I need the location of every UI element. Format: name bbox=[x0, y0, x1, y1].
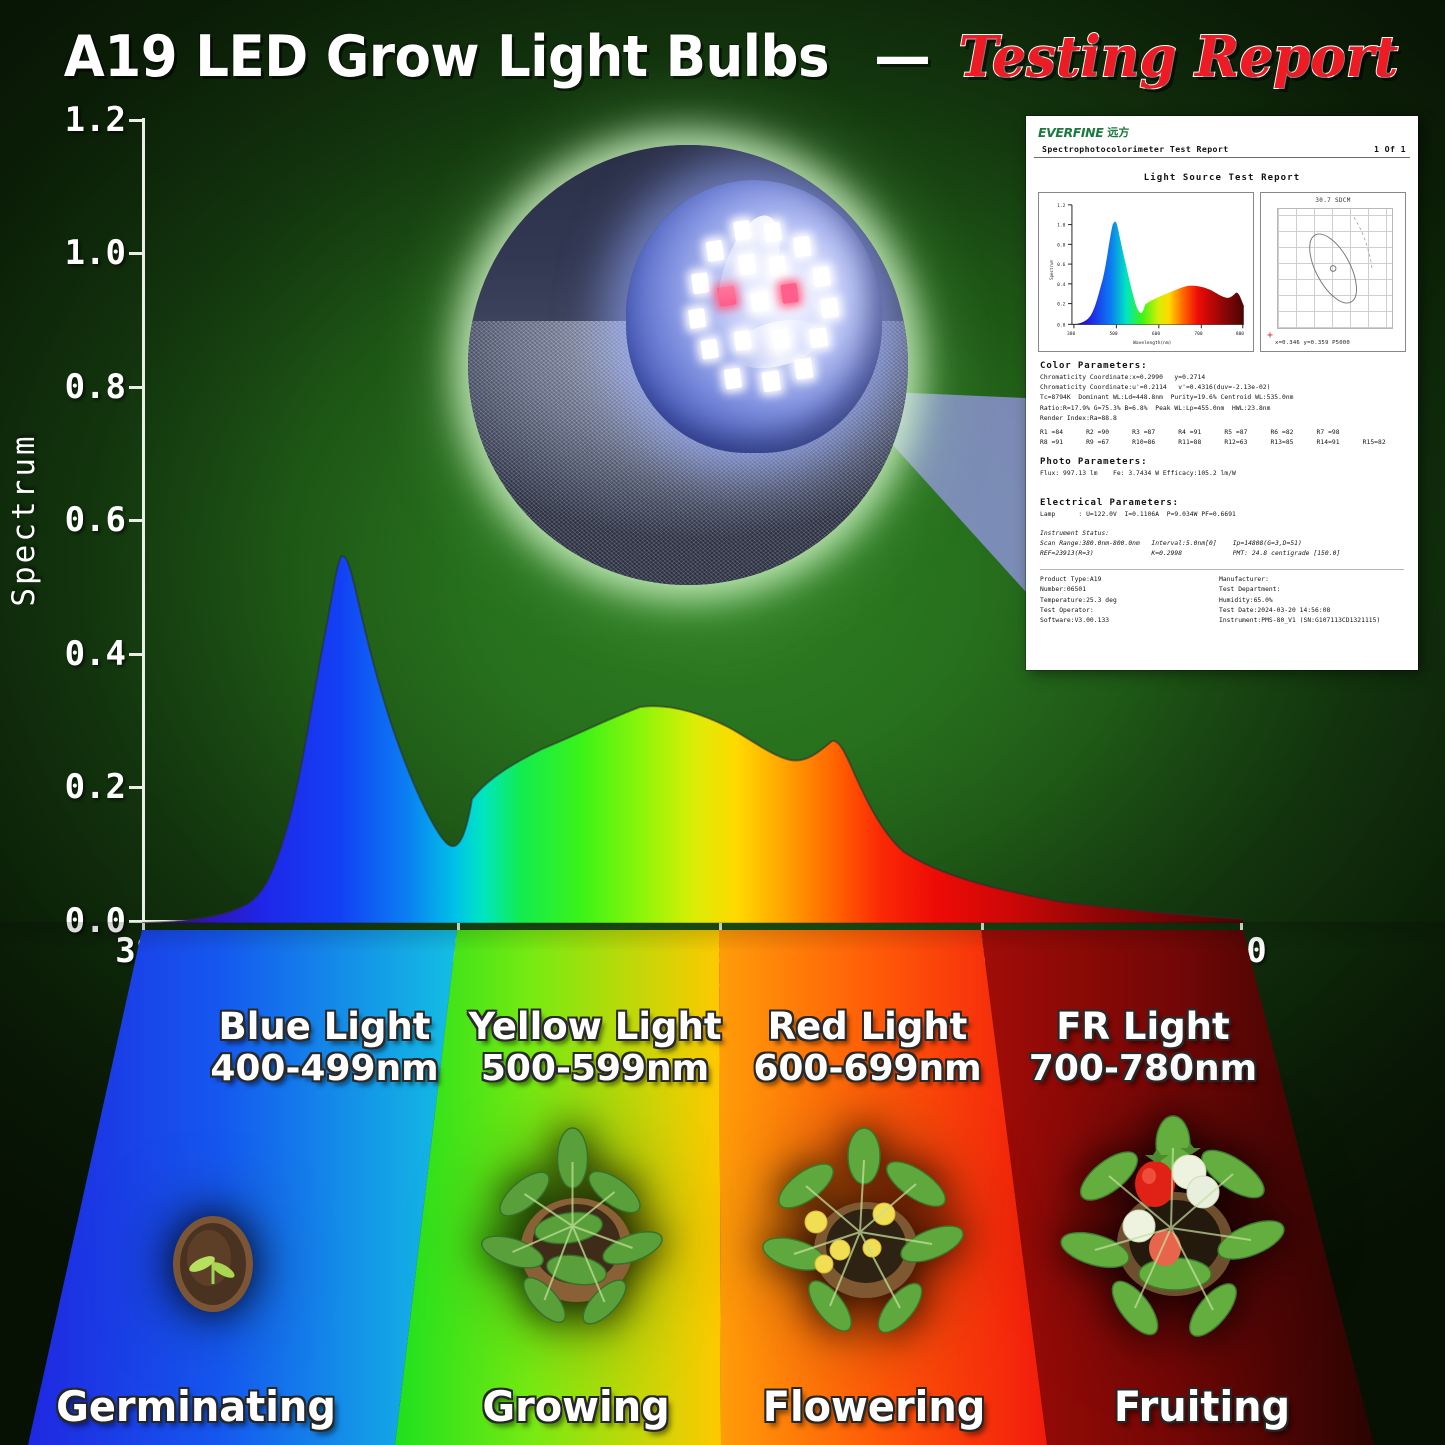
footer-right-3: Test Date:2024-03-20 14:56:08 bbox=[1219, 606, 1410, 616]
y-tick-3 bbox=[129, 519, 142, 522]
band-name-blue: Blue Light bbox=[219, 1005, 431, 1048]
svg-text:1.0: 1.0 bbox=[1057, 223, 1065, 229]
svg-text:0.2: 0.2 bbox=[1057, 302, 1065, 308]
electrical-parameters-line: Lamp : U=122.0V I=0.1106A P=9.034W PF=0.… bbox=[1040, 510, 1410, 520]
instrument-status-right-0: Ip=14808(G=3,D=51) bbox=[1233, 539, 1341, 549]
band-label-blue: Blue Light 400-499nm bbox=[167, 1006, 482, 1090]
report-header-title: Spectrophotocolorimeter Test Report bbox=[1042, 144, 1229, 154]
infographic-root: A19 LED Grow Light Bulbs — Testing Repor… bbox=[0, 0, 1445, 1445]
report-cie-footer: x=0.346 y=0.359 P5000 bbox=[1275, 340, 1350, 346]
report-spectrum-chart: 1.21.0 0.80.6 0.40.2 0.0 380500 600700 8… bbox=[1038, 192, 1254, 352]
y-tick-label-1: 0.2 bbox=[65, 767, 126, 807]
band-label-red: Red Light 600-699nm bbox=[740, 1006, 995, 1090]
svg-text:Wavelength(nm): Wavelength(nm) bbox=[1133, 340, 1171, 346]
footer-right-4: Instrument:PMS-80_V1 (SN:G107113CD132111… bbox=[1219, 616, 1410, 626]
svg-text:0.0: 0.0 bbox=[1057, 322, 1065, 328]
bulb-glass-dome bbox=[626, 180, 881, 453]
color-param-line-3: Ratio:R=17.9% G=75.3% B=6.8% Peak WL:Lp=… bbox=[1040, 404, 1410, 414]
render-index-row-2: R8 =91 R9 =67 R10=86 R11=88 R12=63 R13=8… bbox=[1040, 438, 1410, 448]
y-tick-label-4: 0.8 bbox=[65, 367, 126, 407]
y-tick-label-2: 0.4 bbox=[65, 634, 126, 674]
band-name-yellow: Yellow Light bbox=[468, 1005, 721, 1048]
y-tick-1 bbox=[129, 786, 142, 789]
y-tick-4 bbox=[129, 386, 142, 389]
band-name-red: Red Light bbox=[768, 1005, 968, 1048]
svg-text:1.2: 1.2 bbox=[1057, 203, 1065, 209]
band-label-yellow: Yellow Light 500-599nm bbox=[459, 1006, 731, 1090]
y-tick-label-3: 0.6 bbox=[65, 500, 126, 540]
bulb-photo-circle bbox=[468, 145, 908, 585]
footer-right-2: Humidity:65.0% bbox=[1219, 596, 1410, 606]
instrument-status-right-1: PMT: 24.8 centigrade [150.0] bbox=[1233, 549, 1341, 559]
footer-left-3: Test Operator: bbox=[1040, 606, 1205, 616]
seed-sprout-icon bbox=[161, 1212, 265, 1321]
title-dash: — bbox=[874, 24, 931, 90]
report-footer-divider bbox=[1040, 569, 1404, 570]
svg-text:Spectrum: Spectrum bbox=[1049, 260, 1054, 280]
band-range-blue: 400-499nm bbox=[167, 1049, 482, 1089]
flowering-plant-icon bbox=[754, 1122, 974, 1342]
young-plant-icon bbox=[465, 1122, 680, 1337]
color-param-line-2: Tc=8794K Dominant WL:Ld=448.8nm Purity=1… bbox=[1040, 393, 1410, 403]
report-cie-title: 30.7 SDCM bbox=[1261, 197, 1405, 204]
everfine-logo-cn: 远方 bbox=[1107, 124, 1129, 140]
title-highlight-text: Testing Report bbox=[959, 24, 1399, 90]
instrument-status-block: Instrument Status: Scan Range:380.0nm-80… bbox=[1040, 529, 1410, 560]
band-range-red: 600-699nm bbox=[740, 1049, 995, 1089]
stage-label-fruiting: Fruiting bbox=[1114, 1382, 1290, 1431]
title-main-text: A19 LED Grow Light Bulbs bbox=[64, 24, 829, 90]
footer-right-1: Test Department: bbox=[1219, 585, 1410, 595]
stage-label-germinating: Germinating bbox=[56, 1382, 336, 1431]
instrument-status-left-1: REF=23913(R=3) K=0.2998 bbox=[1040, 549, 1217, 559]
y-tick-6 bbox=[129, 119, 142, 122]
svg-text:0.8: 0.8 bbox=[1057, 242, 1065, 248]
color-param-line-4: Render Index:Ra=88.8 bbox=[1040, 414, 1410, 424]
band-label-fr: FR Light 700-780nm bbox=[1012, 1006, 1274, 1090]
report-cie-grid bbox=[1277, 208, 1393, 329]
instrument-status-heading: Instrument Status: bbox=[1040, 529, 1410, 539]
bulb-photo bbox=[468, 145, 938, 585]
y-axis-title: Spectrum bbox=[6, 433, 42, 606]
stage-label-flowering: Flowering bbox=[763, 1382, 986, 1431]
everfine-logo-text: EVERFINE bbox=[1038, 125, 1103, 140]
report-page-number: 1 Of 1 bbox=[1374, 144, 1406, 154]
svg-text:380: 380 bbox=[1067, 331, 1075, 337]
photo-parameters-line: Flux: 997.13 lm Fe: 3.7434 W Efficacy:10… bbox=[1040, 469, 1410, 479]
cie-marker-icon: + bbox=[1267, 333, 1273, 339]
report-footer: Product Type:A19 Number:06501 Temperatur… bbox=[1040, 575, 1410, 626]
color-param-line-1: Chromaticity Coordinate:u'=0.2114 v'=0.4… bbox=[1040, 383, 1410, 393]
band-range-yellow: 500-599nm bbox=[459, 1049, 731, 1089]
stage-label-growing: Growing bbox=[482, 1382, 669, 1431]
instrument-status-left-0: Scan Range:380.0nm-800.0nm Interval:5.0n… bbox=[1040, 539, 1217, 549]
svg-text:600: 600 bbox=[1152, 331, 1160, 337]
color-parameters-heading: Color Parameters: bbox=[1040, 361, 1410, 371]
svg-text:800: 800 bbox=[1236, 331, 1244, 337]
y-tick-2 bbox=[129, 653, 142, 656]
footer-left-4: Software:V3.00.133 bbox=[1040, 616, 1205, 626]
report-cie-chart: 30.7 SDCM + x=0.346 y=0.359 P5000 bbox=[1260, 192, 1406, 352]
fruiting-plant-icon bbox=[1055, 1114, 1295, 1349]
report-header-row: Spectrophotocolorimeter Test Report 1 Of… bbox=[1034, 143, 1410, 158]
photo-parameters-heading: Photo Parameters: bbox=[1040, 457, 1410, 467]
y-tick-label-5: 1.0 bbox=[65, 233, 126, 273]
svg-text:700: 700 bbox=[1194, 331, 1202, 337]
report-brand: EVERFINE 远方 bbox=[1034, 122, 1410, 143]
page-title: A19 LED Grow Light Bulbs — Testing Repor… bbox=[0, 18, 1445, 96]
band-name-fr: FR Light bbox=[1056, 1005, 1229, 1048]
report-charts: 1.21.0 0.80.6 0.40.2 0.0 380500 600700 8… bbox=[1034, 192, 1410, 352]
svg-text:0.6: 0.6 bbox=[1057, 262, 1065, 268]
svg-text:500: 500 bbox=[1109, 331, 1117, 337]
footer-left-2: Temperature:25.3 deg bbox=[1040, 596, 1205, 606]
render-index-row-1: R1 =84 R2 =90 R3 =87 R4 =91 R5 =87 R6 =8… bbox=[1040, 428, 1410, 438]
report-doc-title: Light Source Test Report bbox=[1034, 173, 1410, 183]
electrical-parameters-heading: Electrical Parameters: bbox=[1040, 498, 1410, 508]
light-band-fan: Blue Light 400-499nm Yellow Light 500-59… bbox=[0, 922, 1445, 1445]
y-tick-label-6: 1.2 bbox=[65, 100, 126, 140]
footer-right-0: Manufacturer: bbox=[1219, 575, 1410, 585]
band-range-fr: 700-780nm bbox=[1012, 1049, 1274, 1089]
color-param-line-0: Chromaticity Coordinate:x=0.2990 y=0.271… bbox=[1040, 373, 1410, 383]
y-tick-5 bbox=[129, 252, 142, 255]
footer-left-1: Number:06501 bbox=[1040, 585, 1205, 595]
footer-left-0: Product Type:A19 bbox=[1040, 575, 1205, 585]
test-report-document: EVERFINE 远方 Spectrophotocolorimeter Test… bbox=[1026, 116, 1418, 670]
svg-text:0.4: 0.4 bbox=[1057, 282, 1065, 288]
